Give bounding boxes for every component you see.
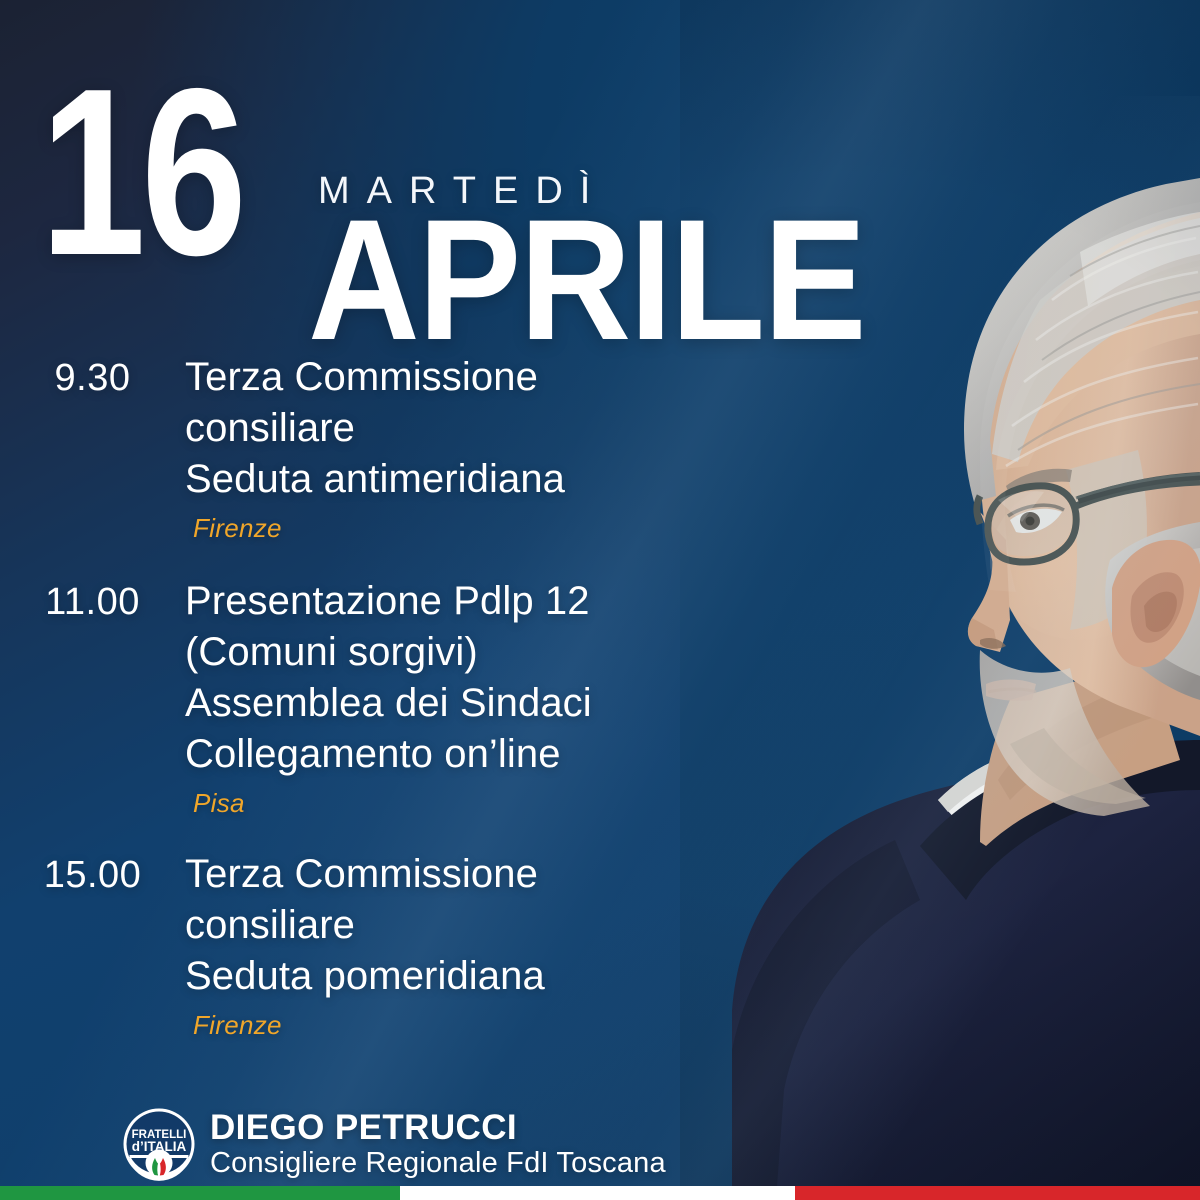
schedule-list: 9.30 Terza Commissione consiliare Seduta… — [0, 352, 760, 1047]
entry-time: 11.00 — [0, 576, 185, 628]
entry-body: Presentazione Pdlp 12 (Comuni sorgivi) A… — [185, 576, 760, 819]
schedule-entry: 15.00 Terza Commissione consiliare Sedut… — [0, 849, 760, 1041]
schedule-entry: 9.30 Terza Commissione consiliare Seduta… — [0, 352, 760, 544]
daily-agenda-poster: 16 MARTEDÌ APRILE 9.30 Terza Commissione… — [0, 0, 1200, 1200]
entry-line: (Comuni sorgivi) — [185, 627, 760, 678]
entry-line: consiliare — [185, 403, 760, 454]
month-label: APRILE — [308, 194, 865, 366]
tricolor-red-stripe — [795, 1186, 1200, 1200]
date-header: 16 MARTEDÌ APRILE — [40, 72, 860, 312]
politician-role: Consigliere Regionale FdI Toscana — [210, 1147, 666, 1180]
entry-line: Terza Commissione — [185, 849, 760, 900]
entry-body: Terza Commissione consiliare Seduta pome… — [185, 849, 760, 1041]
tricolor-green-stripe — [0, 1186, 400, 1200]
entry-line: Presentazione Pdlp 12 — [185, 576, 760, 627]
entry-line: consiliare — [185, 900, 760, 951]
tricolor-white-stripe — [400, 1186, 795, 1200]
entry-time: 9.30 — [0, 352, 185, 404]
footer-signature: FRATELLI d’ITALIA DIEGO PETRUCCI Consigl… — [122, 1104, 666, 1184]
entry-line: Seduta pomeridiana — [185, 951, 760, 1002]
entry-time: 15.00 — [0, 849, 185, 901]
fratelli-ditalia-logo-icon: FRATELLI d’ITALIA — [122, 1107, 196, 1181]
entry-line: Terza Commissione — [185, 352, 760, 403]
entry-location: Pisa — [193, 788, 760, 819]
politician-name: DIEGO PETRUCCI — [210, 1109, 666, 1147]
entry-body: Terza Commissione consiliare Seduta anti… — [185, 352, 760, 544]
entry-line: Collegamento on’line — [185, 729, 760, 780]
schedule-entry: 11.00 Presentazione Pdlp 12 (Comuni sorg… — [0, 576, 760, 819]
entry-location: Firenze — [193, 1010, 760, 1041]
italian-tricolor-bar — [0, 1186, 1200, 1200]
entry-line: Assemblea dei Sindaci — [185, 678, 760, 729]
footer-text-block: DIEGO PETRUCCI Consigliere Regionale FdI… — [210, 1109, 666, 1180]
entry-line: Seduta antimeridiana — [185, 454, 760, 505]
entry-location: Firenze — [193, 513, 760, 544]
day-number: 16 — [40, 54, 242, 292]
